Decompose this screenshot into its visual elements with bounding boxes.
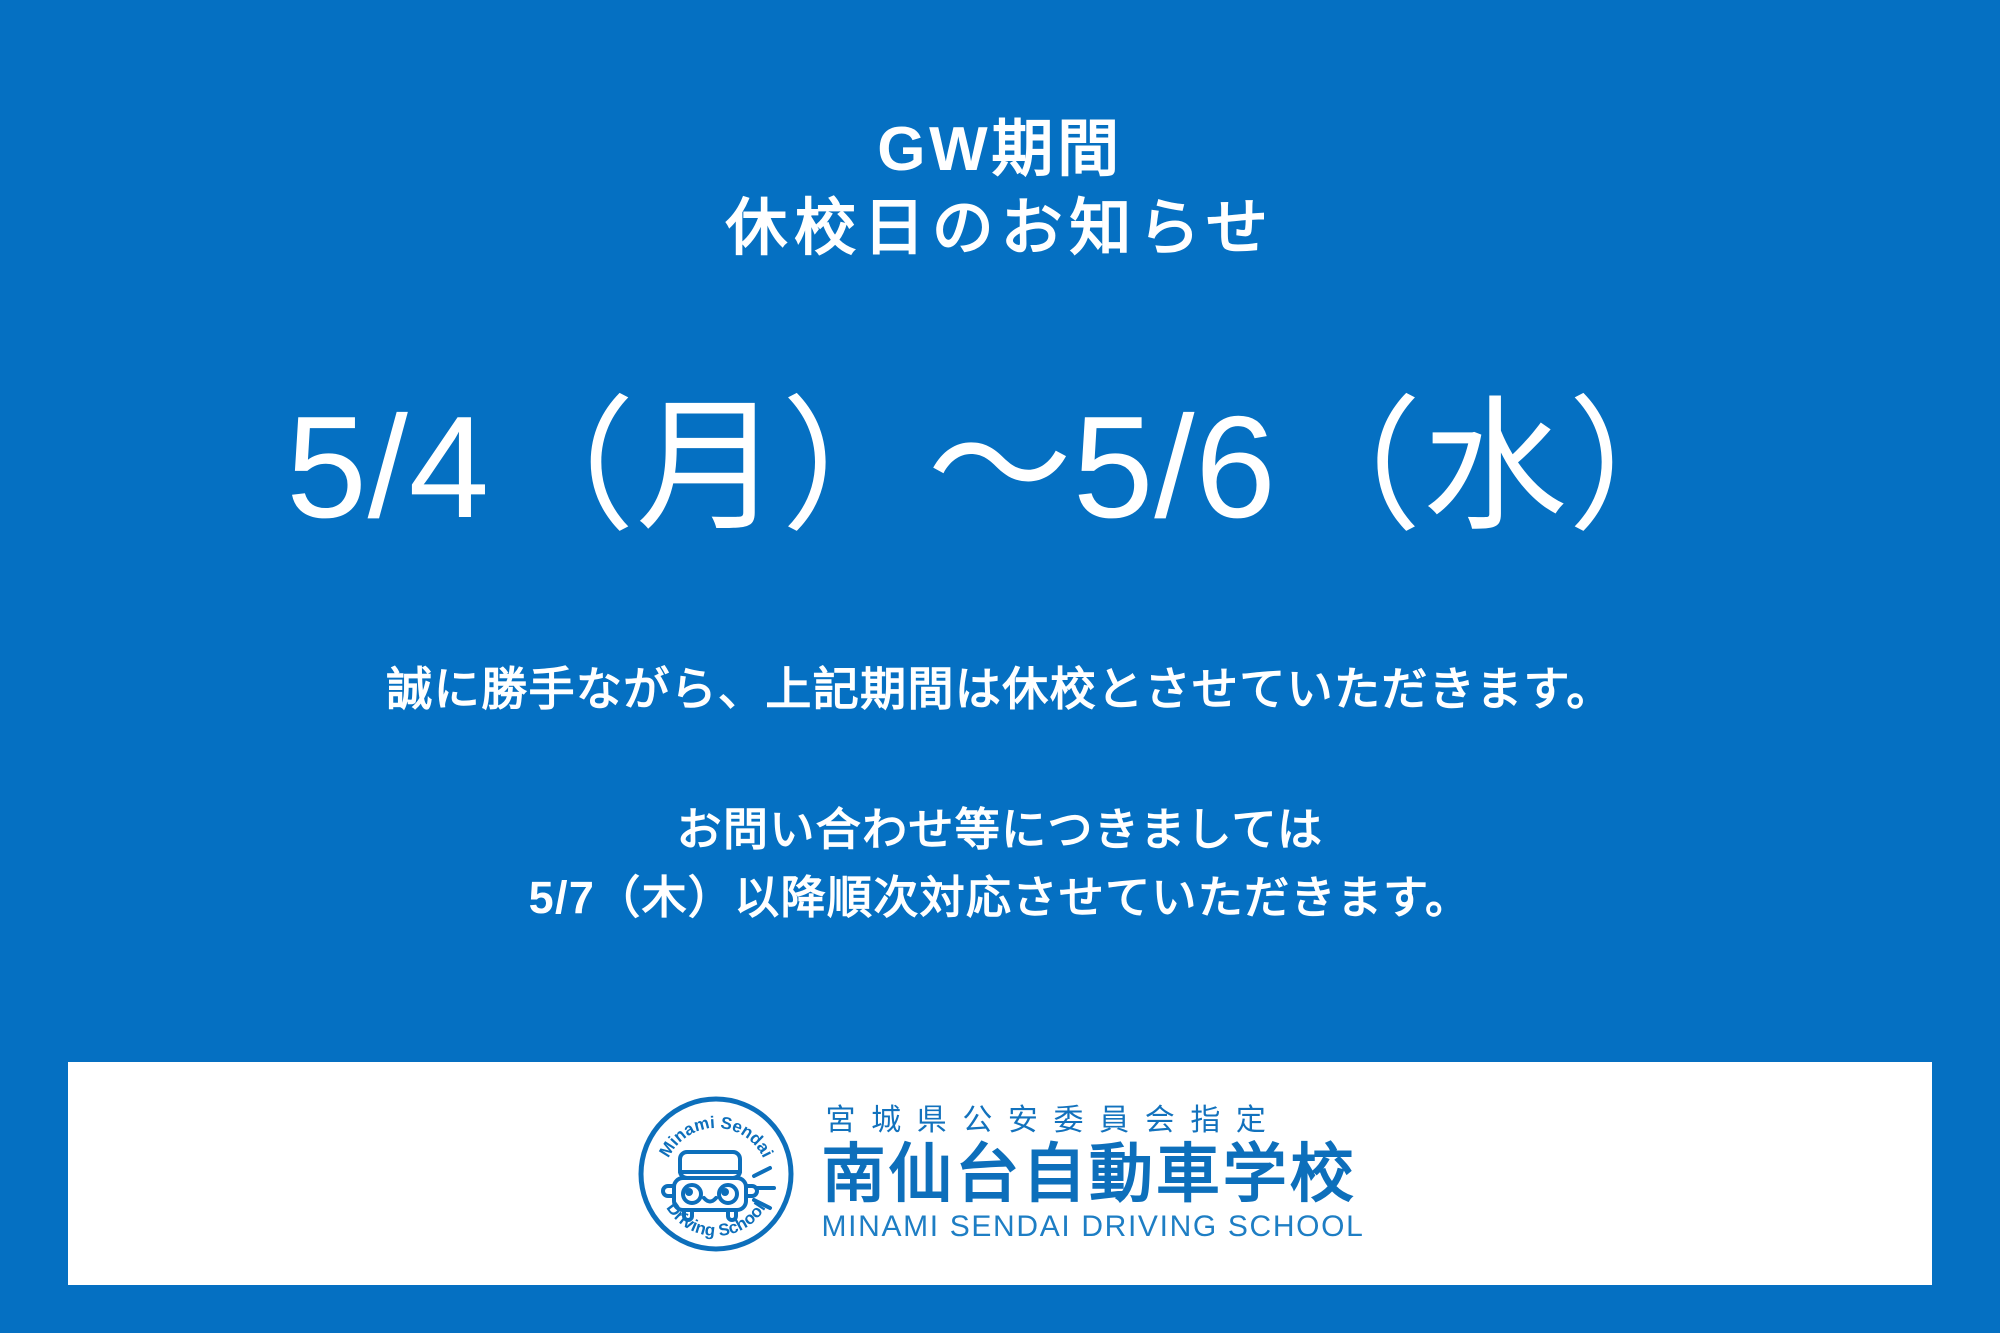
notice-poster: GW期間 休校日のお知らせ 5/4（月）〜5/6（水） 誠に勝手ながら、上記期間… (0, 0, 2000, 1333)
headline-line-2: 休校日のお知らせ (0, 189, 2000, 268)
headline-block: GW期間 休校日のお知らせ (0, 110, 2000, 269)
date-range-block: 5/4（月）〜5/6（水） (0, 395, 2000, 540)
paragraph-spacer (0, 724, 2000, 796)
certification-label: 宮城県公安委員会指定 (822, 1106, 1365, 1136)
body-text-block: 誠に勝手ながら、上記期間は休校とさせていただきます。 お問い合わせ等につきまして… (0, 655, 2000, 931)
school-name-roman: MINAMI SENDAI DRIVING SCHOOL (822, 1212, 1365, 1242)
school-logo: Minami Sendai Driving School (636, 1094, 1365, 1254)
school-logo-text: 宮城県公安委員会指定 南仙台自動車学校 MINAMI SENDAI DRIVIN… (822, 1106, 1365, 1242)
body-paragraph-2-line-1: お問い合わせ等につきましては (0, 796, 2000, 864)
school-name-jp: 南仙台自動車学校 (822, 1142, 1365, 1206)
body-paragraph-1: 誠に勝手ながら、上記期間は休校とさせていただきます。 (0, 655, 2000, 724)
headline-line-1: GW期間 (0, 110, 2000, 189)
body-paragraph-2-line-2: 5/7（木）以降順次対応させていただきます。 (0, 864, 2000, 932)
driving-school-badge-icon: Minami Sendai Driving School (636, 1094, 796, 1254)
svg-text:Driving School: Driving School (662, 1198, 769, 1239)
footer-logo-bar: Minami Sendai Driving School (68, 1062, 1932, 1285)
closure-date-range: 5/4（月）〜5/6（水） (0, 395, 2000, 540)
